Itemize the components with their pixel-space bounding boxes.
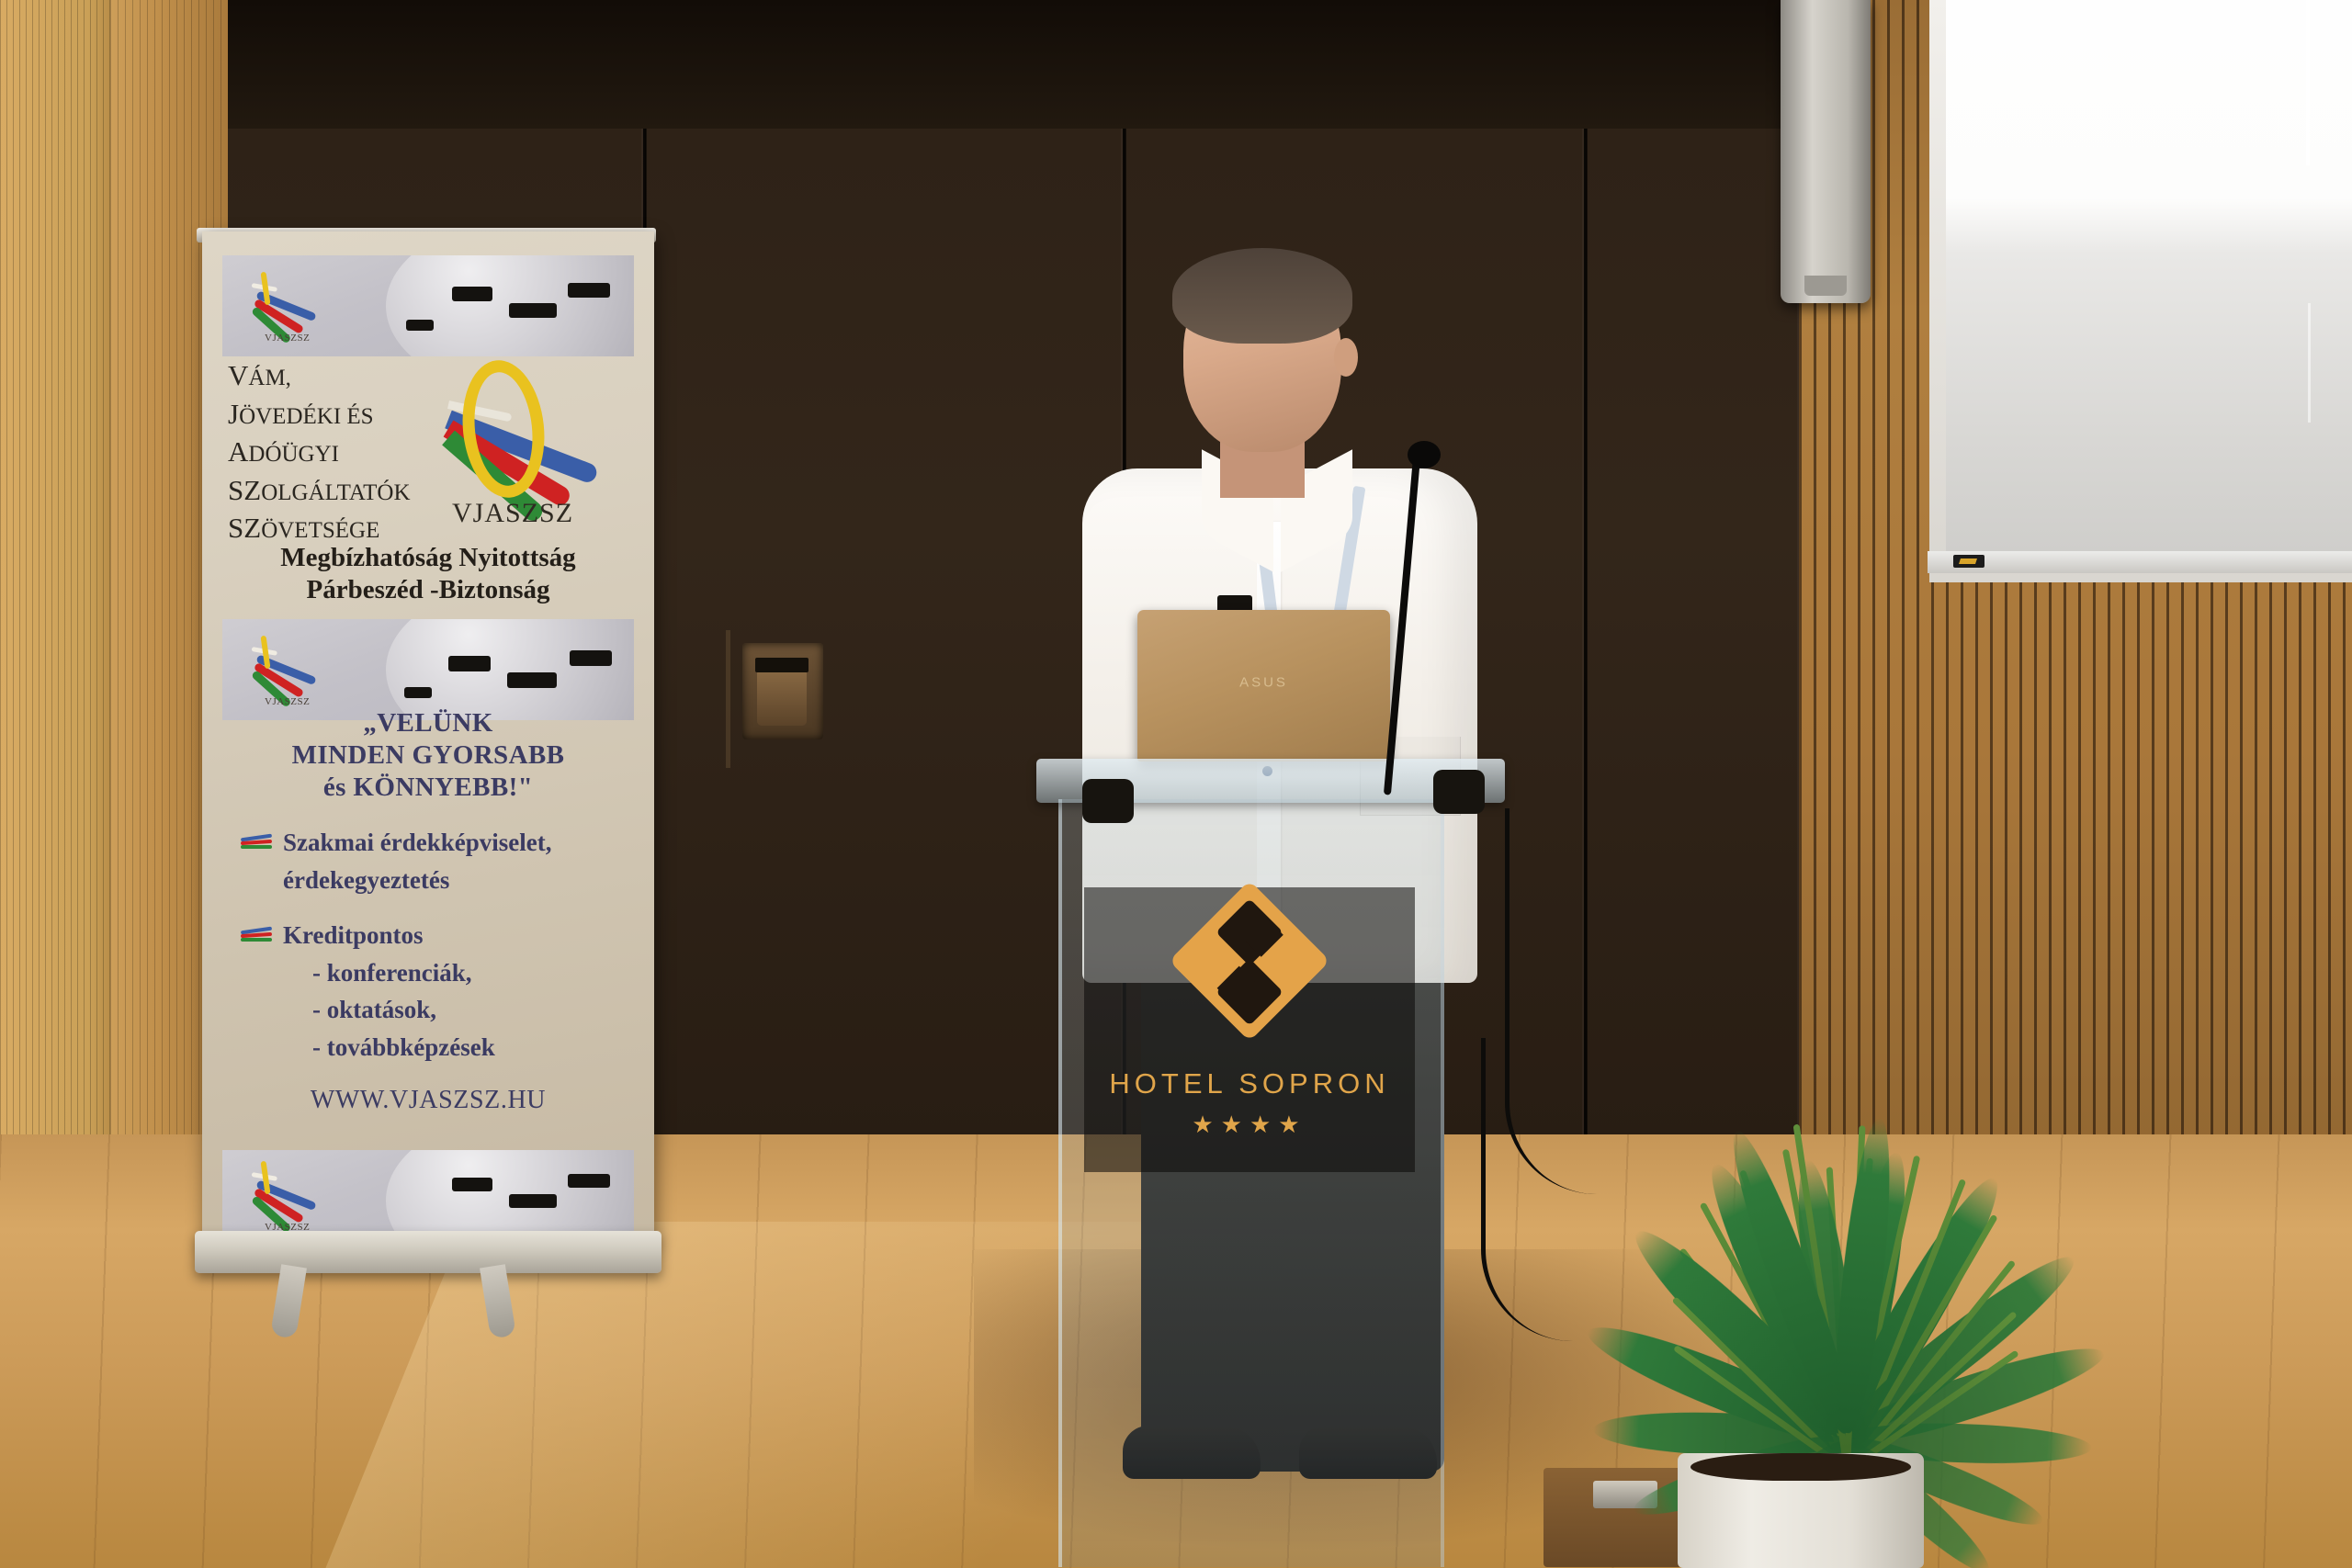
banner-slogan: Megbízhatóság Nyitottság Párbeszéd -Bizt… <box>220 542 636 607</box>
microphone-head-icon <box>1408 441 1441 468</box>
banner-photo-strip-middle: VJASZSZ <box>222 619 634 720</box>
vjaszsz-rollup-banner: VJASZSZ VÁM, JÖVEDÉKI ÉS ADÓÜGYI SZOLGÁL… <box>202 231 654 1242</box>
quote-line-3: és KÖNNYEBB!" <box>220 772 636 804</box>
banner-mini-logo-top: VJASZSZ <box>243 268 353 342</box>
banner-mini-logo-label-top: VJASZSZ <box>265 333 310 344</box>
slogan-line-1: Megbízhatóság Nyitottság <box>220 542 636 574</box>
hotel-star-rating: ★★★★ <box>1084 1111 1415 1139</box>
door-edge <box>726 630 730 768</box>
projection-screen-bottom-bar <box>1928 551 2352 573</box>
hotel-name-label: HOTEL SOPRON <box>1084 1067 1415 1100</box>
bullet-item-1: Szakmai érdekképviselet, <box>241 827 636 859</box>
org-line-1: VÁM, <box>228 356 412 395</box>
photo-scene: ASUS HOTEL SOPRON ★★★★ <box>0 0 2352 1568</box>
bullet-item-2: Kreditpontos <box>241 919 636 952</box>
projector-screen-case <box>1781 0 1871 303</box>
banner-base-cassette <box>195 1231 661 1273</box>
bullet-2-sub-2-row: - oktatások, <box>241 994 636 1026</box>
banner-website-url: WWW.VJASZSZ.HU <box>220 1086 636 1115</box>
org-line-3: ADÓÜGYI <box>228 433 412 471</box>
microphone-mount-left <box>1082 779 1134 823</box>
bullet-arrow-icon <box>241 929 274 943</box>
org-line-2: JÖVEDÉKI ÉS <box>228 395 412 434</box>
left-wood-wall-strip <box>0 0 110 1134</box>
puzzle-globe-image-middle <box>386 619 634 720</box>
speaker-hair <box>1172 248 1352 344</box>
hotel-sopron-logo-sign: HOTEL SOPRON ★★★★ <box>1084 887 1415 1172</box>
vjaszsz-main-logo: VJASZSZ <box>443 360 636 521</box>
laptop-brand-label: ASUS <box>1239 675 1288 691</box>
bullet-1-line-1: Szakmai érdekképviselet, <box>283 829 551 856</box>
laptop-lid: ASUS <box>1137 610 1390 761</box>
banner-photo-strip-bottom: VJASZSZ <box>222 1150 634 1238</box>
wall-upper-band <box>110 0 1801 138</box>
microphone-mount-right <box>1433 770 1485 814</box>
logo-wordmark: VJASZSZ <box>452 498 573 529</box>
banner-photo-strip-top: VJASZSZ <box>222 255 634 356</box>
bullet-2-sub-3: - továbbképzések <box>312 1033 495 1061</box>
screen-highlight-2 <box>2308 303 2311 423</box>
banner-bullet-list: Szakmai érdekképviselet, érdekegyeztetés… <box>241 827 636 1068</box>
potted-palm-plant <box>1415 882 2187 1488</box>
screen-highlight-1 <box>2306 0 2310 165</box>
banner-mini-logo-middle: VJASZSZ <box>243 632 353 705</box>
bullet-item-1-cont: érdekegyeztetés <box>241 864 636 897</box>
bullet-2-sub-3-row: - továbbképzések <box>241 1032 636 1064</box>
slogan-line-2: Párbeszéd -Biztonság <box>220 574 636 606</box>
banner-mini-logo-label-middle: VJASZSZ <box>265 696 310 707</box>
org-line-4: SZOLGÁLTATÓK <box>228 471 412 510</box>
organization-name-block: VÁM, JÖVEDÉKI ÉS ADÓÜGYI SZOLGÁLTATÓK SZ… <box>228 356 412 547</box>
screen-brand-badge-icon <box>1953 555 1984 568</box>
bullet-2-sub-1: - konferenciák, <box>312 959 472 987</box>
plant-soil <box>1690 1453 1911 1481</box>
quote-line-1: „VELÜNK <box>220 707 636 739</box>
speaker-ear <box>1334 338 1358 377</box>
recessed-door-handle[interactable] <box>742 643 823 739</box>
bullet-2-sub-1-row: - konferenciák, <box>241 957 636 989</box>
bullet-2-sub-2: - oktatások, <box>312 996 436 1023</box>
projection-screen <box>1946 0 2352 551</box>
banner-mini-logo-bottom: VJASZSZ <box>243 1157 353 1231</box>
bullet-arrow-icon <box>241 836 274 851</box>
banner-quote: „VELÜNK MINDEN GYORSABB és KÖNNYEBB!" <box>220 707 636 803</box>
quote-line-2: MINDEN GYORSABB <box>220 739 636 772</box>
bullet-2-line-1: Kreditpontos <box>283 921 424 949</box>
bullet-1-line-2: érdekegyeztetés <box>283 866 449 894</box>
hotel-sopron-diamond-icon <box>1169 880 1329 1041</box>
projector-screen-case-cap <box>1804 276 1847 296</box>
